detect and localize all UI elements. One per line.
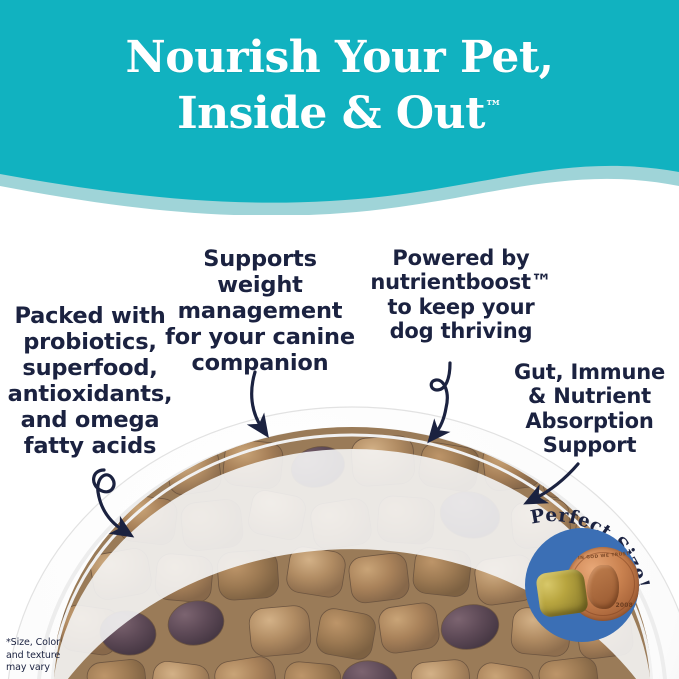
footnote-disclaimer: *Size, Color and texture may vary	[6, 637, 90, 675]
perfect-size-badge: Perfect Size! IN GOD WE TRUST 2008	[506, 487, 679, 647]
callout-packed-with: Packed with probiotics, superfood, antio…	[2, 303, 178, 460]
page-title: Nourish Your Pet, Inside & Out™	[0, 30, 679, 143]
header-banner: Nourish Your Pet, Inside & Out™	[0, 0, 679, 215]
badge-circle: IN GOD WE TRUST 2008	[525, 528, 639, 642]
callout-nutrientboost: Powered by nutrientboost™ to keep your d…	[368, 246, 554, 343]
callout-absorption-support: Gut, Immune & Nutrient Absorption Suppor…	[500, 360, 679, 457]
product-infographic: Nourish Your Pet, Inside & Out™ Packed w…	[0, 0, 679, 679]
callout-weight-management: Supports weight management for your cani…	[160, 246, 360, 376]
penny-date-text: 2008	[616, 602, 634, 609]
trademark-symbol: ™	[485, 98, 502, 118]
kibble-piece-icon	[535, 568, 589, 618]
banner-title-line1: Nourish Your Pet,	[126, 32, 554, 83]
penny-portrait	[587, 565, 619, 609]
banner-title-line2: Inside & Out	[177, 88, 485, 139]
